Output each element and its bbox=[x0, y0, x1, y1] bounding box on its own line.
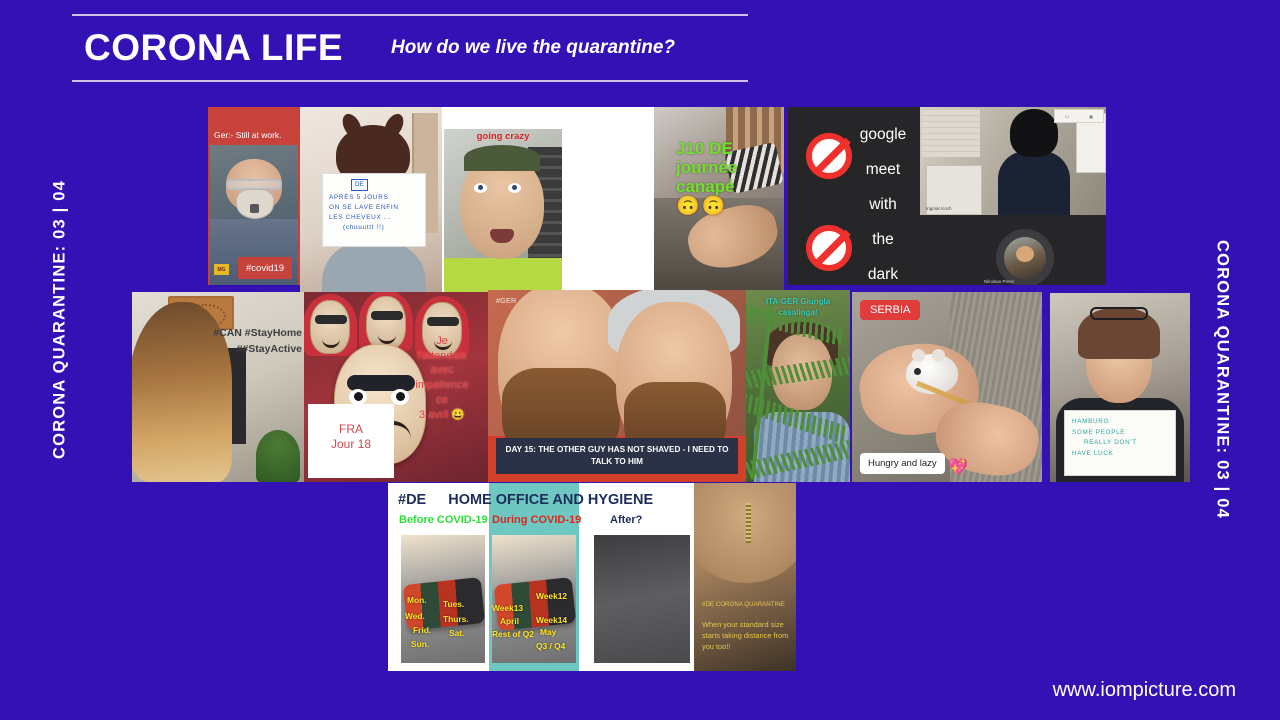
sign-country-box: DE bbox=[351, 179, 368, 191]
day-label: Jour 18 bbox=[308, 437, 394, 452]
day-label: Thurs. bbox=[443, 614, 469, 624]
participant-name-bottom: Nikolaus Prenz bbox=[984, 279, 1014, 284]
country-label: FRA bbox=[308, 422, 394, 437]
overlay-text-jungle: ITA-GER Giungla casalinga! bbox=[750, 296, 846, 318]
photo-tile-ita-jungle: ITA-GER Giungla casalinga! bbox=[746, 290, 850, 482]
hashtag-badge-covid19: #covid19 bbox=[238, 257, 292, 279]
sign-line: HAVE LUCK bbox=[1072, 449, 1168, 460]
week-label: Week14 bbox=[536, 615, 567, 625]
hashtag-tag: #DE CORONA QUARANTINE bbox=[702, 601, 785, 608]
hamster-eye bbox=[914, 368, 921, 375]
photo-tile-stayhome: #CAN #StayHome ##StayActive bbox=[132, 292, 304, 482]
photo-caption: Hungry and lazy bbox=[860, 453, 945, 474]
heart-emoji: 💖 bbox=[948, 460, 968, 476]
sign-line: APRÈS 5 JOURS bbox=[329, 193, 419, 203]
country-day-label: FRA Jour 18 bbox=[308, 422, 394, 452]
overlay-line: the bbox=[846, 222, 920, 257]
overlay-line: google bbox=[846, 117, 920, 152]
hashtag-line: ##StayActive bbox=[190, 342, 302, 358]
meet-toolbar[interactable]: ☐ ▦ bbox=[1054, 109, 1104, 123]
caption-going-crazy: going crazy bbox=[444, 131, 562, 142]
dali-mask-icon bbox=[310, 300, 350, 354]
eyeglasses-icon bbox=[1090, 307, 1148, 320]
page-subtitle: How do we live the quarantine? bbox=[391, 37, 675, 59]
side-label-left: CORONA QUARANTINE: 03 | 04 bbox=[51, 110, 70, 530]
sign-title: HAMBURG: bbox=[1072, 417, 1168, 428]
slide-header: CORONA LIFE How do we live the quarantin… bbox=[72, 14, 748, 82]
photo-masked-worker: MG #covid19 bbox=[210, 145, 298, 285]
person-shoulders bbox=[322, 242, 426, 294]
quarter-label: Q3 / Q4 bbox=[536, 641, 565, 651]
respirator-mask-icon bbox=[236, 189, 274, 219]
overlay-line: Je bbox=[400, 334, 484, 349]
green-tshirt bbox=[444, 258, 562, 292]
avatar-photo bbox=[1004, 237, 1046, 279]
zipper-icon bbox=[746, 503, 751, 543]
grid-view-icon[interactable]: ▦ bbox=[1089, 114, 1093, 119]
column-heading-during: During COVID-19 bbox=[492, 514, 581, 526]
participant-name-top: Ingmar Koch bbox=[926, 206, 952, 211]
overlay-text-canape: J10 DE journée canapé 🙃🙃 bbox=[676, 139, 784, 217]
overlay-line: journée bbox=[676, 158, 784, 177]
panel-title: HOME OFFICE AND HYGIENE bbox=[448, 492, 653, 508]
week-label: Week12 bbox=[536, 591, 567, 601]
person-hair bbox=[464, 145, 540, 171]
eye-left bbox=[474, 183, 487, 193]
overlay-line: impatience bbox=[400, 378, 484, 393]
overlay-line: casalinga! bbox=[750, 307, 846, 318]
vader-helmet-icon bbox=[1010, 109, 1058, 157]
week-label: Week13 bbox=[492, 603, 523, 613]
panel-home-office-and-hygiene: #DE HOME OFFICE AND HYGIENE Before COVID… bbox=[388, 483, 796, 671]
upside-down-face-emoji: 🙃🙃 bbox=[676, 196, 784, 217]
day-label: Sun. bbox=[411, 639, 429, 649]
sign-line: LES CHEVEUX ... bbox=[329, 213, 419, 223]
day-label: Frid. bbox=[413, 625, 431, 635]
day-label: Tues. bbox=[443, 599, 464, 609]
side-label-right: CORONA QUARANTINE: 03 | 04 bbox=[1213, 170, 1232, 590]
person-in-darth-vader-mask bbox=[996, 109, 1072, 213]
day-label: Mon. bbox=[407, 595, 427, 605]
overlay-line: meet bbox=[846, 152, 920, 187]
column-image-during: Week12 Week13 Week14 April May Rest of Q… bbox=[492, 535, 576, 663]
page-title: CORONA LIFE bbox=[84, 27, 343, 69]
screen-share-icon[interactable]: ☐ bbox=[1065, 114, 1069, 119]
overlay-line: canapé bbox=[676, 177, 784, 196]
overlay-line: dark bbox=[846, 257, 920, 285]
photo-caption: When your standard size starts taking di… bbox=[702, 619, 790, 652]
avatar bbox=[996, 229, 1054, 285]
photo-tile-journee-canape: J10 DE journée canapé 🙃🙃 bbox=[654, 107, 784, 294]
photo-subject bbox=[694, 483, 796, 583]
column-heading-before: Before COVID-19 bbox=[399, 514, 488, 526]
column-heading-after: After? bbox=[610, 514, 642, 526]
quarter-label: Rest of Q2 bbox=[492, 629, 534, 639]
photo-tile-still-at-work: MG #covid19 Ger:- Still at work. bbox=[208, 107, 300, 285]
photo-corner-logo: MG bbox=[214, 264, 229, 275]
sign-line: (chuuuttt !!) bbox=[329, 223, 419, 233]
photo-tile-fra-masks: FRA Jour 18 Je l'attendais avec impatien… bbox=[304, 292, 488, 482]
photo-tile-hair-sign: DE APRÈS 5 JOURS ON SE LAVE ENFIN LES CH… bbox=[300, 107, 442, 294]
photo-tile-going-crazy: going crazy bbox=[442, 107, 654, 294]
house-plant bbox=[256, 430, 300, 482]
dark-bed-background bbox=[594, 535, 690, 663]
day-label: Sat. bbox=[449, 628, 464, 638]
video-participant-tile: ☐ ▦ Ingmar Koch bbox=[920, 107, 1106, 215]
footer-website-url: www.iompicture.com bbox=[1053, 679, 1236, 702]
handwritten-sign-de: DE APRÈS 5 JOURS ON SE LAVE ENFIN LES CH… bbox=[322, 173, 426, 247]
photo-tile-ger-beards: #GER DAY 15: THE OTHER GUY HAS NOT SHAVE… bbox=[488, 290, 746, 482]
sign-line: ON SE LAVE ENFIN bbox=[329, 203, 419, 213]
wall-tiles bbox=[922, 109, 980, 157]
column-image-before: Mon. Tues. Wed. Thurs. Frid. Sat. Sun. bbox=[401, 535, 485, 663]
sign-line: REALLY DON'T bbox=[1072, 438, 1168, 449]
overlay-line: 3 avril 😀 bbox=[400, 408, 484, 423]
column-image-after bbox=[594, 535, 690, 663]
country-tag: #GER bbox=[496, 296, 516, 305]
overlay-text-dark-side: google meet with the dark side... bbox=[846, 117, 920, 285]
photo-going-crazy: going crazy bbox=[444, 129, 562, 292]
person-torso bbox=[998, 151, 1070, 215]
overlay-line: ITA-GER Giungla bbox=[750, 296, 846, 307]
month-label: April bbox=[500, 616, 519, 626]
overlay-line: l'attendais bbox=[400, 349, 484, 364]
tile-banner-text: Ger:- Still at work. bbox=[208, 107, 300, 145]
mask-eye-left bbox=[349, 389, 367, 405]
overlay-line: with bbox=[846, 187, 920, 222]
overlay-line: ce bbox=[400, 393, 484, 408]
hashtag-line: #CAN #StayHome bbox=[190, 326, 302, 342]
sign-line: SOME PEOPLE bbox=[1072, 428, 1168, 439]
photo-tile-standard-size: #DE CORONA QUARANTINE When your standard… bbox=[694, 483, 796, 671]
overlay-line: J10 DE bbox=[676, 139, 784, 158]
hashtag-overlay: #CAN #StayHome ##StayActive bbox=[190, 326, 302, 358]
country-badge-serbia: SERBIA bbox=[860, 300, 920, 320]
month-label: May bbox=[540, 627, 556, 637]
photo-caption: DAY 15: THE OTHER GUY HAS NOT SHAVED - I… bbox=[496, 438, 738, 474]
photo-tile-serbia-hamster: SERBIA 💖 Hungry and lazy bbox=[852, 292, 1042, 482]
eye-right bbox=[508, 183, 521, 193]
handwritten-sign-hamburg: HAMBURG: SOME PEOPLE REALLY DON'T HAVE L… bbox=[1064, 410, 1176, 476]
photo-tile-google-meet: google meet with the dark side... ☐ ▦ In… bbox=[788, 107, 1106, 285]
overlay-text-french: Je l'attendais avec impatience ce 3 avri… bbox=[400, 334, 484, 422]
photo-tile-hamburg-sign: HAMBURG: SOME PEOPLE REALLY DON'T HAVE L… bbox=[1050, 293, 1190, 482]
overlay-line: avec bbox=[400, 363, 484, 378]
country-tag: #DE bbox=[398, 492, 426, 508]
day-label: Wed. bbox=[405, 611, 425, 621]
